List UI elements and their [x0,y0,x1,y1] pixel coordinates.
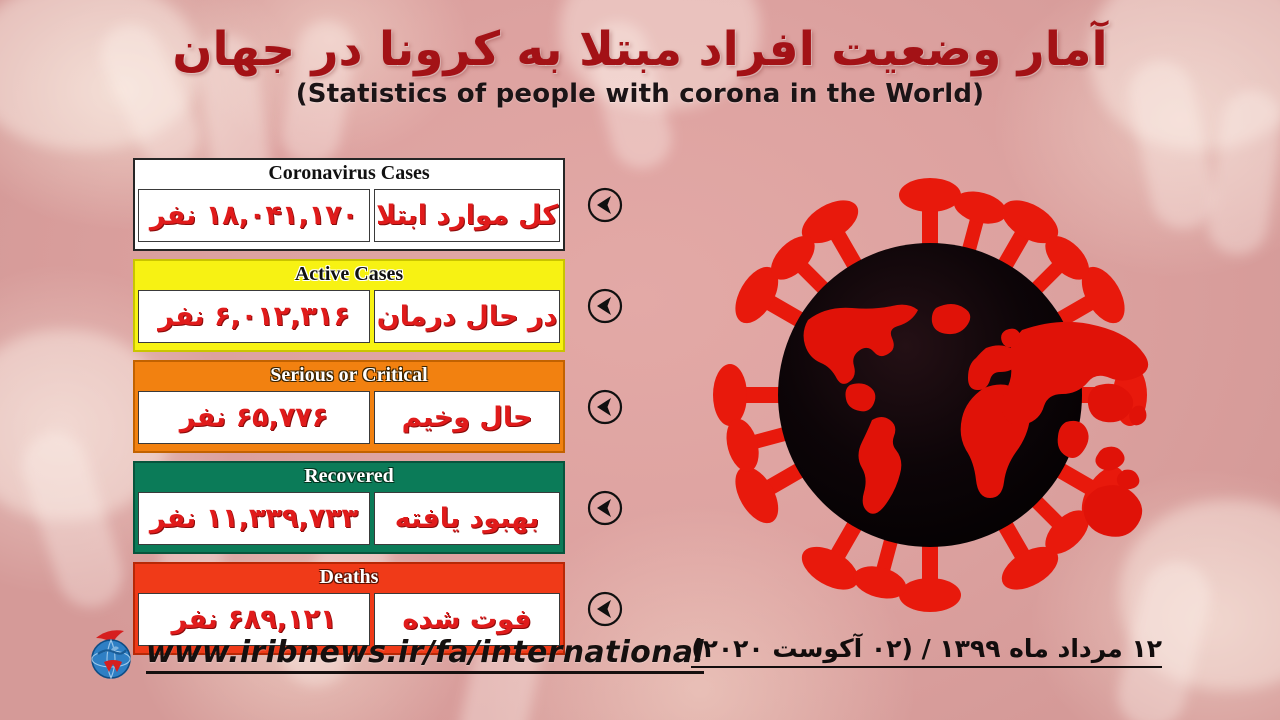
stat-row-body: ۱۸,۰۴۱,۱۷۰ نفر کل موارد ابتلا [135,186,563,245]
stat-row-persian-label: کل موارد ابتلا [376,200,558,231]
left-arrow-icon [587,288,623,324]
stat-row-value: ۱۱,۳۳۹,۷۳۳ نفر [150,503,358,534]
stat-row-persian-label: حال وخیم [402,402,533,433]
irib-globe-logo[interactable] [86,626,136,682]
coronavirus-globe-illustration [700,170,1160,620]
left-arrow-icon [587,389,623,425]
stat-row-coronavirus-cases: Coronavirus Cases ۱۸,۰۴۱,۱۷۰ نفر کل موار… [133,158,565,251]
infographic-canvas: آمار وضعیت افراد مبتلا به کرونا در جهان … [0,0,1280,720]
stat-card: Serious or Critical ۶۵,۷۷۶ نفر حال وخیم [133,360,565,453]
statistics-panel: Coronavirus Cases ۱۸,۰۴۱,۱۷۰ نفر کل موار… [133,158,565,663]
footer-left: www.iribnews.ir/fa/international [86,626,704,682]
stat-row-value-cell: ۶۵,۷۷۶ نفر [138,391,370,444]
page-subtitle-english: (Statistics of people with corona in the… [0,79,1280,109]
header: آمار وضعیت افراد مبتلا به کرونا در جهان … [0,0,1280,109]
stat-row-persian-label-cell: در حال درمان [374,290,560,343]
publication-date: ۱۲ مرداد ماه ۱۳۹۹ / (۰۲ آکوست ۲۰۲۰) [691,634,1162,668]
stat-row-active-cases: Active Cases ۶,۰۱۲,۳۱۶ نفر در حال درمان [133,259,565,352]
stat-row-english-label: Deaths [135,564,563,590]
stat-row-value-cell: ۱۱,۳۳۹,۷۳۳ نفر [138,492,370,545]
stat-row-persian-label-cell: حال وخیم [374,391,560,444]
stat-row-value-cell: ۱۸,۰۴۱,۱۷۰ نفر [138,189,370,242]
stat-row-value: ۶۵,۷۷۶ نفر [180,402,328,433]
stat-row-english-label: Recovered [135,463,563,489]
stat-row-body: ۶,۰۱۲,۳۱۶ نفر در حال درمان [135,287,563,346]
stat-row-serious-or-critical: Serious or Critical ۶۵,۷۷۶ نفر حال وخیم [133,360,565,453]
left-arrow-icon [587,187,623,223]
stat-row-value: ۱۸,۰۴۱,۱۷۰ نفر [150,200,358,231]
page-title-persian: آمار وضعیت افراد مبتلا به کرونا در جهان [0,0,1280,77]
stat-row-english-label: Coronavirus Cases [135,160,563,186]
stat-row-persian-label-cell: کل موارد ابتلا [374,189,560,242]
stat-row-english-label: Serious or Critical [135,362,563,388]
left-arrow-icon [587,490,623,526]
stat-card: Recovered ۱۱,۳۳۹,۷۳۳ نفر بهبود یافته [133,461,565,554]
stat-row-english-label: Active Cases [135,261,563,287]
stat-card: Active Cases ۶,۰۱۲,۳۱۶ نفر در حال درمان [133,259,565,352]
stat-row-persian-label-cell: بهبود یافته [374,492,560,545]
left-arrow-icon [587,591,623,627]
stat-row-persian-label: در حال درمان [377,301,558,332]
stat-row-body: ۶۵,۷۷۶ نفر حال وخیم [135,388,563,447]
stat-card: Coronavirus Cases ۱۸,۰۴۱,۱۷۰ نفر کل موار… [133,158,565,251]
website-url[interactable]: www.iribnews.ir/fa/international [146,635,704,674]
stat-row-value-cell: ۶,۰۱۲,۳۱۶ نفر [138,290,370,343]
stat-row-recovered: Recovered ۱۱,۳۳۹,۷۳۳ نفر بهبود یافته [133,461,565,554]
stat-row-body: ۱۱,۳۳۹,۷۳۳ نفر بهبود یافته [135,489,563,548]
stat-row-value: ۶,۰۱۲,۳۱۶ نفر [158,301,350,332]
stat-row-persian-label: بهبود یافته [395,503,540,534]
